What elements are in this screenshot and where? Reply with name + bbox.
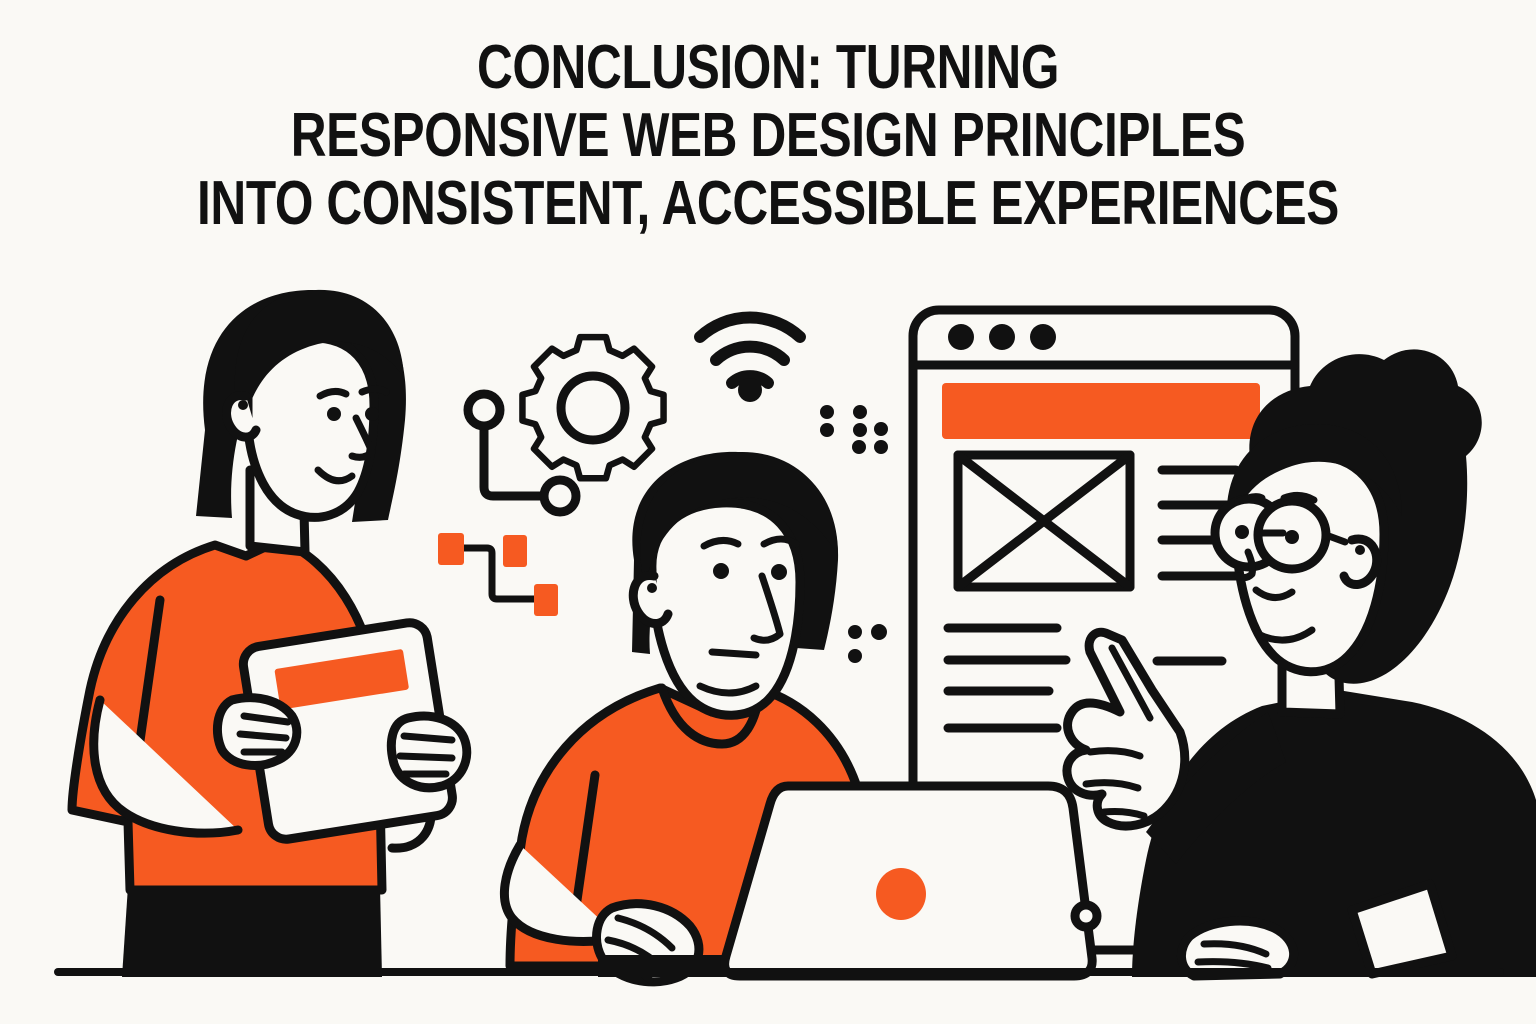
orange-node-2 [503,535,527,567]
node-flow-circle-2 [544,480,576,512]
illustration-page: CONCLUSION: TURNING RESPONSIVE WEB DESIG… [0,0,1536,1024]
left-person-eye-right [365,407,379,421]
right-person-eye-left [1235,525,1249,539]
browser-traffic-lights[interactable] [948,324,1056,350]
browser-image-placeholder [958,455,1130,587]
traffic-light-dot-2[interactable] [989,324,1015,350]
wifi-arc-outer [700,318,800,337]
dot-grid-small-icon [848,624,887,663]
node-flow-circle-1 [468,394,500,426]
left-person-left-hand [217,698,296,766]
center-person-face [652,503,800,715]
orange-node-1 [438,533,464,565]
center-person-mouth [712,652,756,655]
wifi-arc-middle [716,347,784,360]
center-person-eye-right [771,564,787,580]
laptop-logo-circle [876,868,926,920]
orange-node-flow-icon [438,533,558,616]
illustration-canvas: .ink { fill:none; stroke:#111111; stroke… [0,0,1536,1024]
left-person-brow-right [362,389,386,392]
small-circle-icon [1075,905,1097,927]
gear-center-hole [561,376,625,440]
left-person-eye-left [327,407,341,421]
left-person-skirt [122,886,382,977]
right-person-eye-right [1285,530,1299,544]
wifi-dot [738,378,762,402]
dot-grid-large-icon [820,405,888,454]
center-person-eye-left [713,563,729,579]
person-holding-tablet [72,290,467,977]
browser-hero-banner [942,383,1260,439]
left-person-right-hand [391,716,466,788]
traffic-light-dot-1[interactable] [948,324,974,350]
wifi-icon[interactable] [700,318,800,402]
traffic-light-dot-3[interactable] [1030,324,1056,350]
orange-node-3 [534,584,558,616]
gear-icon[interactable] [522,337,663,478]
right-person-resting-hand [1181,921,1293,976]
laptop-device[interactable] [725,786,1093,976]
